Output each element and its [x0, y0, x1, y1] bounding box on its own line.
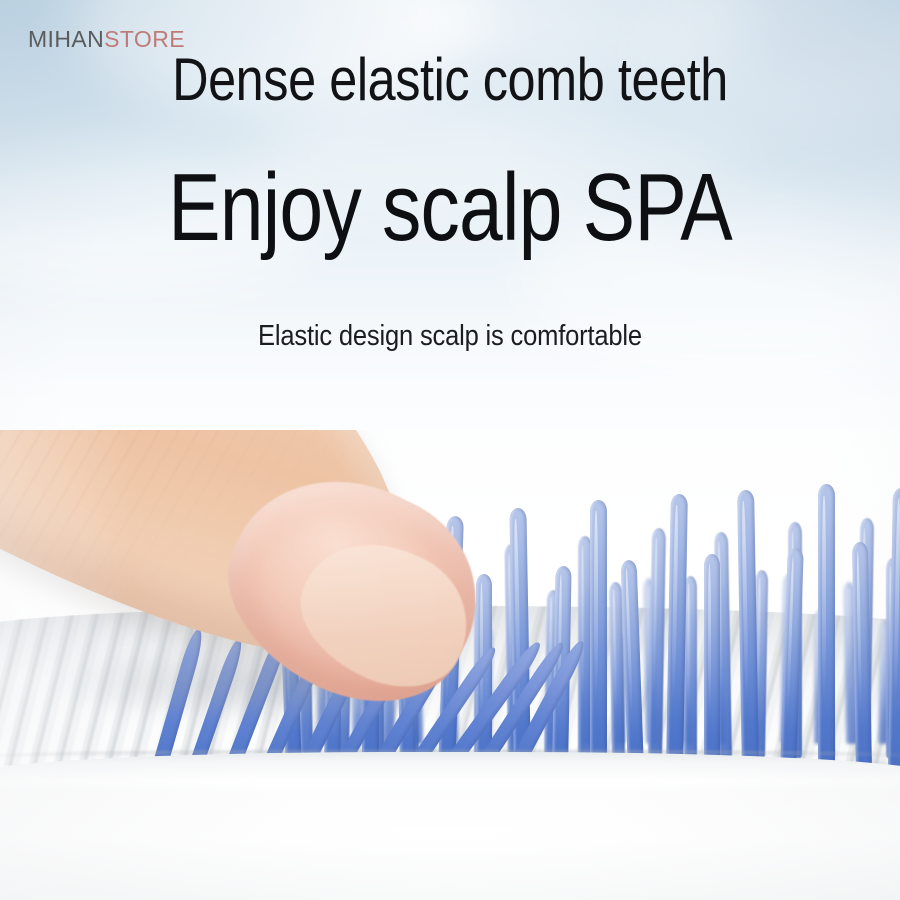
- comb-bristle: [590, 500, 607, 772]
- brand-logo: MIHANSTORE: [28, 28, 185, 51]
- headline-primary: Dense elastic comb teeth: [72, 50, 828, 110]
- comb-bristle: [704, 554, 720, 772]
- headline-subline: Elastic design scalp is comfortable: [54, 322, 846, 351]
- headline-secondary: Enjoy scalp SPA: [81, 160, 819, 256]
- comb-bristle: [737, 490, 759, 772]
- brand-name-primary: MIHAN: [28, 26, 104, 52]
- comb-front-face: [0, 790, 900, 900]
- product-photo: [0, 430, 900, 900]
- comb-bristle: [818, 484, 835, 772]
- comb-bristle: [888, 488, 900, 772]
- product-banner: MIHANSTORE Dense elastic comb teeth Enjo…: [0, 0, 900, 900]
